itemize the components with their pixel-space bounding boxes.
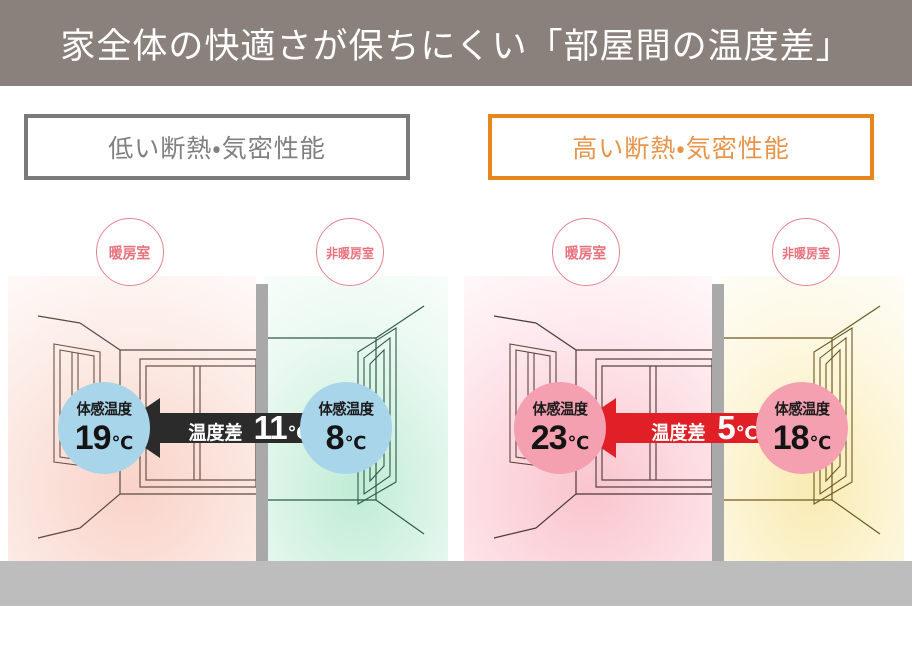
temp-unit: ℃ — [112, 433, 134, 453]
temp-bubble-label: 体感温度 — [76, 402, 131, 417]
panel-after: 高い断熱・気密性能 — [456, 86, 912, 646]
room-tag-unheated-label: 非暖房室 — [782, 243, 830, 262]
temp-number: 8 — [326, 419, 344, 457]
temp-number: 19 — [75, 419, 111, 457]
page-title-bar: 家全体の快適さが保ちにくい「部屋間の温度差」 — [0, 0, 912, 86]
room-tag-unheated: 非暖房室 — [316, 218, 384, 286]
floor-strip — [0, 561, 456, 606]
page-title: 家全体の快適さが保ちにくい「部屋間の温度差」 — [60, 18, 851, 69]
temp-bubble-value: 8℃ — [326, 421, 367, 455]
temp-bubble-label: 体感温度 — [318, 402, 373, 417]
room-tag-unheated: 非暖房室 — [772, 218, 840, 286]
temp-bubble-value: 19℃ — [75, 421, 134, 455]
temp-bubble-unheated: 体感温度 18℃ — [756, 382, 848, 474]
difference-label: 温度差 — [652, 418, 706, 445]
difference-caption: 温度差 5℃ — [650, 409, 757, 447]
temp-bubble-value: 23℃ — [531, 421, 590, 455]
temp-bubble-value: 18℃ — [773, 421, 832, 455]
panel-before-heading-label: 低い断熱・気密性能 — [108, 129, 326, 165]
temp-number: 23 — [531, 419, 567, 457]
floor-strip — [456, 561, 912, 606]
panel-after-heading-label: 高い断熱・気密性能 — [572, 129, 790, 165]
panel-before: 低い断熱・気密性能 — [0, 86, 456, 646]
temp-number: 18 — [773, 419, 809, 457]
room-tag-heated: 暖房室 — [552, 218, 620, 286]
temp-bubble-label: 体感温度 — [532, 402, 587, 417]
temp-bubble-label: 体感温度 — [774, 402, 829, 417]
infographic-page: 家全体の快適さが保ちにくい「部屋間の温度差」 低い断熱・気密性能 — [0, 0, 912, 646]
temp-unit: ℃ — [568, 433, 590, 453]
difference-value: 5 — [717, 409, 734, 446]
panel-before-scene: 暖房室 非暖房室 温度差 11℃ 体感温度 — [0, 276, 456, 646]
temp-bubble-heated: 体感温度 23℃ — [514, 382, 606, 474]
difference-label: 温度差 — [188, 418, 242, 445]
room-tag-heated: 暖房室 — [96, 218, 164, 286]
room-tag-heated-label: 暖房室 — [109, 242, 150, 263]
room-tag-heated-label: 暖房室 — [565, 242, 606, 263]
panel-after-scene: 暖房室 非暖房室 温度差 5℃ 体感温度 23℃ — [456, 276, 912, 646]
temp-bubble-heated: 体感温度 19℃ — [58, 382, 150, 474]
difference-caption: 温度差 11℃ — [187, 409, 310, 447]
comparison-panels: 低い断熱・気密性能 — [0, 86, 912, 646]
difference-value: 11 — [254, 409, 287, 446]
temp-unit: ℃ — [810, 433, 832, 453]
panel-before-heading: 低い断熱・気密性能 — [24, 114, 410, 180]
panel-after-heading: 高い断熱・気密性能 — [488, 114, 874, 180]
room-tag-unheated-label: 非暖房室 — [326, 243, 374, 262]
difference-unit: ℃ — [736, 423, 758, 443]
temp-bubble-unheated: 体感温度 8℃ — [300, 382, 392, 474]
temp-unit: ℃ — [345, 433, 367, 453]
